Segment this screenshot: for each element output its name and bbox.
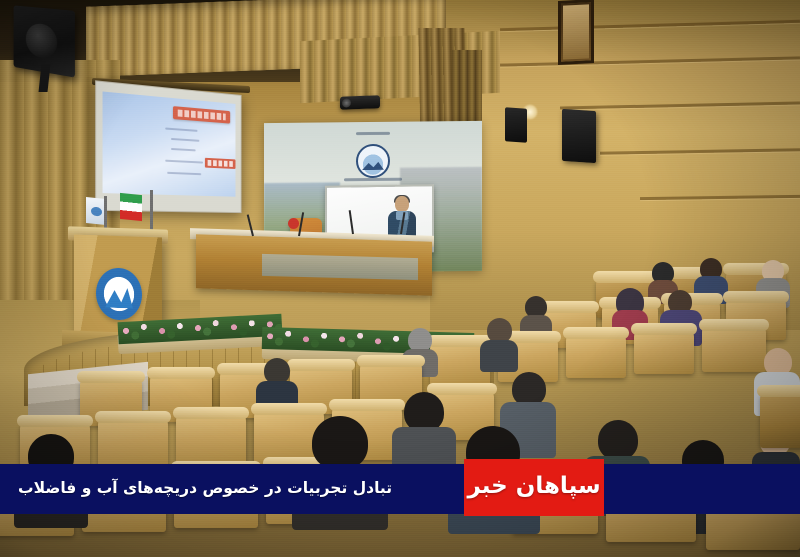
auditorium-seat: [176, 414, 246, 468]
slide-header-bar: [173, 106, 230, 124]
slide-subheader-bar: [205, 158, 236, 169]
framed-picture-icon: [558, 0, 594, 65]
brand-name: سپاهان خبر: [467, 473, 600, 502]
ceiling-projector-icon: [340, 95, 380, 109]
backdrop-title-line: [356, 132, 390, 135]
slide-text-line: [165, 160, 203, 164]
flag-organization: [86, 197, 106, 225]
backdrop-text-line: [344, 178, 402, 182]
projection-screen: [95, 80, 241, 213]
auditorium-seat: [760, 392, 800, 448]
wall-speaker-icon: [562, 109, 596, 163]
flag-iran: [120, 193, 142, 221]
desk-flower: [288, 218, 299, 229]
caption-bar: تبادل تجربیات در خصوص دریچه‌های آب و فاض…: [0, 464, 800, 514]
auditorium-seat: [634, 330, 694, 374]
news-photo-frame: تبادل تجربیات در خصوص دریچه‌های آب و فاض…: [0, 0, 800, 557]
slide-text-line: [171, 138, 199, 142]
wall-speaker-icon: [505, 107, 527, 143]
slide-text-line: [165, 128, 197, 132]
auditorium-seat: [566, 334, 626, 378]
slide-text-line: [167, 172, 201, 175]
presenter-head: [395, 196, 409, 212]
projected-slide: [103, 91, 236, 196]
audience-member: [480, 318, 518, 370]
panel-desk-front: [262, 254, 418, 280]
organization-logo-icon: [356, 144, 390, 178]
brand-badge[interactable]: سپاهان خبر: [464, 459, 604, 516]
audience-member: [520, 296, 552, 336]
slide-text-line: [171, 148, 196, 151]
